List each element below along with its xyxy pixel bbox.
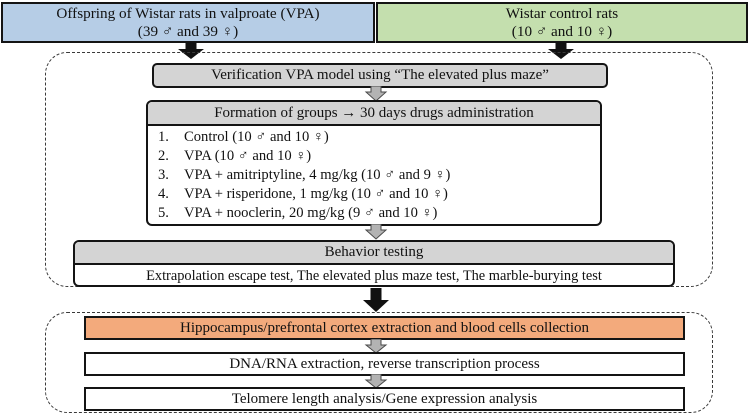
extraction-box: Hippocampus/prefrontal cortex extraction… <box>84 316 685 340</box>
list-item-number: 4. <box>158 185 184 204</box>
list-item-number: 5. <box>158 204 184 223</box>
behavior-tests-list: Extrapolation escape test, The elevated … <box>75 265 673 287</box>
list-item-label: VPA + risperidone, 1 mg/kg (10 ♂ and 10 … <box>184 185 448 204</box>
formation-of-groups-panel: Formation of groups → 30 days drugs admi… <box>146 100 602 226</box>
list-item: 3. VPA + amitriptyline, 4 mg/kg (10 ♂ an… <box>158 166 600 185</box>
list-item-number: 1. <box>158 128 184 147</box>
nucleic-acid-extraction-box: DNA/RNA extraction, reverse transcriptio… <box>84 352 685 376</box>
analysis-box: Telomere length analysis/Gene expression… <box>84 387 685 411</box>
list-item-label: VPA + amitriptyline, 4 mg/kg (10 ♂ and 9… <box>184 166 450 185</box>
flowchart-canvas: Offspring of Wistar rats in valproate (V… <box>0 0 750 416</box>
formation-to-behavior-arrow-icon <box>364 224 388 240</box>
list-item-number: 3. <box>158 166 184 185</box>
vpa-group-title: Offspring of Wistar rats in valproate (V… <box>56 5 319 22</box>
list-item-number: 2. <box>158 147 184 166</box>
list-item: 1. Control (10 ♂ and 10 ♀) <box>158 128 600 147</box>
behavior-testing-panel: Behavior testing Extrapolation escape te… <box>73 240 675 287</box>
behavior-testing-header: Behavior testing <box>75 242 673 265</box>
list-item: 2. VPA (10 ♂ and 10 ♀) <box>158 147 600 166</box>
list-item: 4. VPA + risperidone, 1 mg/kg (10 ♂ and … <box>158 185 600 204</box>
list-item: 5. VPA + nooclerin, 20 mg/kg (9 ♂ and 10… <box>158 204 600 223</box>
vpa-group-box: Offspring of Wistar rats in valproate (V… <box>1 2 375 43</box>
verification-vpa-model-box: Verification VPA model using “The elevat… <box>152 63 608 88</box>
control-group-box: Wistar control rats (10 ♂ and 10 ♀) <box>376 2 748 43</box>
control-group-title: Wistar control rats <box>506 5 618 22</box>
control-group-counts: (10 ♂ and 10 ♀) <box>512 23 612 40</box>
vpa-group-counts: (39 ♂ and 39 ♀) <box>138 23 238 40</box>
list-item-label: Control (10 ♂ and 10 ♀) <box>184 128 329 147</box>
formation-of-groups-header: Formation of groups → 30 days drugs admi… <box>148 102 600 126</box>
treatment-groups-list: 1. Control (10 ♂ and 10 ♀) 2. VPA (10 ♂ … <box>148 126 600 223</box>
list-item-label: VPA (10 ♂ and 10 ♀) <box>184 147 311 166</box>
behavior-to-extraction-arrow-icon <box>361 288 391 312</box>
list-item-label: VPA + nooclerin, 20 mg/kg (9 ♂ and 10 ♀) <box>184 204 437 223</box>
